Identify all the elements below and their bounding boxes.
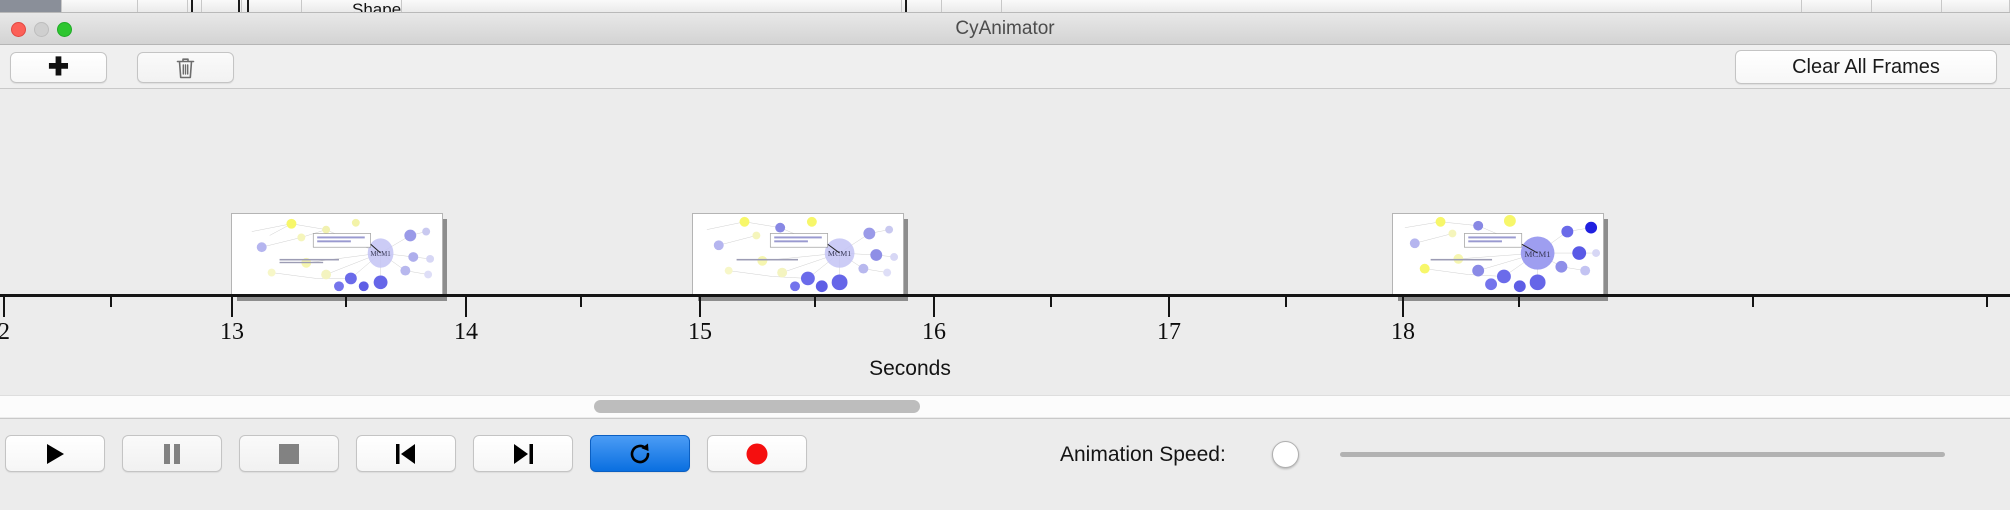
skip-to-start-button[interactable] [356, 435, 456, 472]
axis-tick-major [3, 297, 5, 317]
skip-forward-icon [513, 443, 533, 465]
pause-icon [163, 443, 181, 465]
axis-tick-label: 17 [1157, 319, 1181, 346]
trash-icon [175, 56, 196, 80]
skip-back-icon [396, 443, 416, 465]
timeline-scrollbar[interactable] [0, 395, 2010, 417]
axis-tick-minor [1285, 297, 1287, 307]
plus-icon: ✚ [48, 55, 69, 80]
timeline-scrollbar-thumb[interactable] [594, 400, 920, 413]
axis-tick-label: 13 [220, 319, 244, 346]
axis-tick-label: 15 [688, 319, 712, 346]
timeline-axis [0, 294, 2010, 297]
axis-tick-minor [1050, 297, 1052, 307]
animation-speed-slider-thumb[interactable] [1272, 441, 1299, 468]
axis-tick-major [699, 297, 701, 317]
axis-tick-major [231, 297, 233, 317]
play-icon [45, 443, 65, 465]
axis-tick-label: 14 [454, 319, 478, 346]
timeline-panel[interactable]: MCM1 [0, 89, 2010, 419]
title-bar: CyAnimator [0, 13, 2010, 45]
pause-button[interactable] [122, 435, 222, 472]
axis-tick-minor [1752, 297, 1754, 307]
axis-tick-minor [1518, 297, 1520, 307]
play-button[interactable] [5, 435, 105, 472]
loop-icon [628, 442, 652, 466]
timeline-frame-thumbnail[interactable]: MCM1 [231, 213, 443, 297]
svg-text:MCM1: MCM1 [1524, 249, 1550, 259]
timeline-frame-thumbnail[interactable]: MCM1 [1392, 213, 1604, 297]
record-icon [746, 443, 768, 465]
axis-tick-major [933, 297, 935, 317]
axis-tick-minor [580, 297, 582, 307]
background-window-label: Shape [352, 1, 401, 13]
stop-button[interactable] [239, 435, 339, 472]
add-frame-button[interactable]: ✚ [10, 52, 107, 83]
axis-tick-label: 2 [0, 319, 10, 346]
svg-text:MCM1: MCM1 [828, 249, 851, 258]
skip-to-end-button[interactable] [473, 435, 573, 472]
axis-tick-major [1168, 297, 1170, 317]
axis-tick-label: 18 [1391, 319, 1415, 346]
axis-title: Seconds [0, 357, 2010, 381]
delete-frame-button[interactable] [137, 52, 234, 83]
axis-tick-minor [1986, 297, 1988, 307]
cyanimator-window: Shape CyAnimator ✚ Clear All Frames [0, 0, 2010, 510]
axis-tick-major [465, 297, 467, 317]
axis-tick-minor [814, 297, 816, 307]
timeline-track[interactable]: MCM1 [0, 89, 2010, 418]
animation-speed-label: Animation Speed: [1060, 443, 1226, 467]
stop-icon [279, 444, 299, 464]
window-title: CyAnimator [0, 19, 2010, 39]
timeline-frame-thumbnail[interactable]: MCM1 [692, 213, 904, 297]
background-window-strip: Shape [0, 0, 2010, 13]
toolbar: ✚ Clear All Frames [0, 45, 2010, 89]
axis-tick-minor [345, 297, 347, 307]
axis-tick-label: 16 [922, 319, 946, 346]
record-button[interactable] [707, 435, 807, 472]
loop-button[interactable] [590, 435, 690, 472]
animation-speed-slider[interactable] [1340, 452, 1945, 457]
transport-bar: Animation Speed: [0, 420, 2010, 510]
clear-all-frames-label: Clear All Frames [1792, 56, 1940, 79]
axis-tick-major [1402, 297, 1404, 317]
clear-all-frames-button[interactable]: Clear All Frames [1735, 50, 1997, 84]
axis-tick-minor [110, 297, 112, 307]
svg-text:MCM1: MCM1 [370, 251, 391, 258]
